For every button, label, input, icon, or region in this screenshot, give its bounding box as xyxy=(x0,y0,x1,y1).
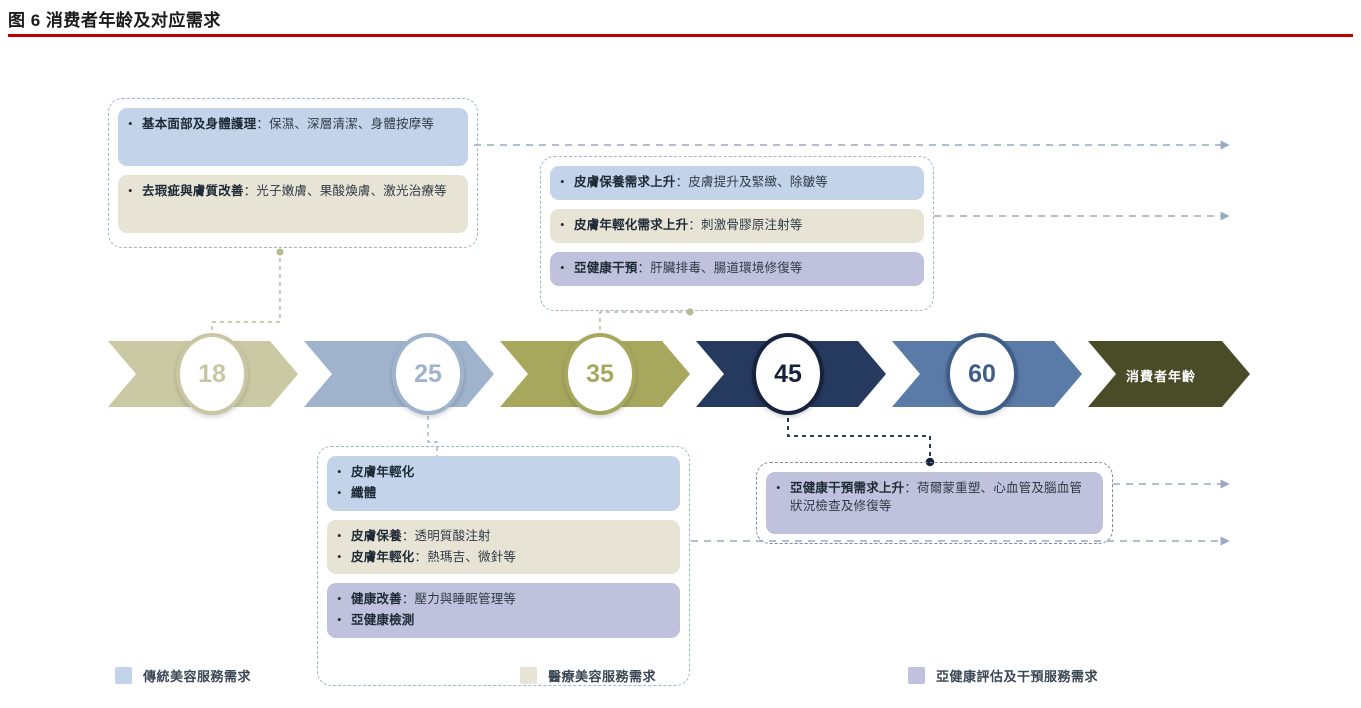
box-bottom-right: • 亞健康干預需求上升：荷爾蒙重塑、心血管及腦血管狀況檢查及修復等 xyxy=(756,462,1113,544)
legend-swatch-icon xyxy=(520,667,537,684)
chip-skin-rejuvenation-rise: • 皮膚年輕化需求上升：刺激骨膠原注射等 xyxy=(550,209,924,243)
chip-health-improvement-detection: • 健康改善：壓力與睡眠管理等 • 亞健康檢測 xyxy=(327,583,680,638)
bullet-item: • 健康改善：壓力與睡眠管理等 xyxy=(337,590,670,609)
chip-skin-maintenance-rise: • 皮膚保養需求上升：皮膚提升及緊緻、除皺等 xyxy=(550,166,924,200)
chip-skincare-rejuvenation: • 皮膚保養：透明質酸注射 • 皮膚年輕化：熱瑪吉、微針等 xyxy=(327,520,680,575)
bullet-item: • 皮膚保養需求上升：皮膚提升及緊緻、除皺等 xyxy=(560,173,914,192)
bullet-dot-icon: • xyxy=(337,527,351,546)
bullet-item: • 去瑕疵與膚質改善：光子嫩膚、果酸煥膚、激光治療等 xyxy=(128,182,458,201)
bullet-item: • 亞健康檢測 xyxy=(337,611,670,630)
bullet-label: 皮膚年輕化需求上升：刺激骨膠原注射等 xyxy=(574,216,914,234)
box-bottom-middle: • 皮膚年輕化 • 纖體 • 皮膚保養：透明質酸注射 • 皮膚年輕化：熱瑪吉、微… xyxy=(317,446,690,686)
age-node-45[interactable]: 45 xyxy=(752,333,824,415)
bullet-label: 亞健康干預需求上升：荷爾蒙重塑、心血管及腦血管狀況檢查及修復等 xyxy=(790,479,1093,515)
bullet-dot-icon: • xyxy=(337,548,351,567)
legend-item-traditional: 傳統美容服務需求 xyxy=(115,666,251,685)
figure-header: 图 6 消费者年龄及对应需求 xyxy=(8,6,1353,40)
age-node-18[interactable]: 18 xyxy=(176,333,248,415)
bullet-item: • 亞健康干預：肝臟排毒、腸道環境修復等 xyxy=(560,259,914,278)
box-top-middle: • 皮膚保養需求上升：皮膚提升及緊緻、除皺等 • 皮膚年輕化需求上升：刺激骨膠原… xyxy=(540,156,934,311)
age-node-label: 35 xyxy=(586,362,614,387)
bullet-dot-icon: • xyxy=(337,463,351,482)
bullet-label: 去瑕疵與膚質改善：光子嫩膚、果酸煥膚、激光治療等 xyxy=(142,182,458,200)
bullet-dot-icon: • xyxy=(560,216,574,235)
bullet-dot-icon: • xyxy=(776,479,790,498)
bullet-dot-icon: • xyxy=(560,173,574,192)
legend-label: 亞健康評估及干預服務需求 xyxy=(936,666,1098,685)
bullet-label: 健康改善：壓力與睡眠管理等 xyxy=(351,590,670,608)
bullet-dot-icon: • xyxy=(560,259,574,278)
bullet-label: 纖體 xyxy=(351,484,670,502)
age-timeline-band: 18 25 35 45 60 消費者年齡 xyxy=(108,329,1250,419)
bullet-dot-icon: • xyxy=(337,590,351,609)
bullet-label: 亞健康檢測 xyxy=(351,611,670,629)
bullet-item: • 皮膚年輕化需求上升：刺激骨膠原注射等 xyxy=(560,216,914,235)
legend-item-subhealth: 亞健康評估及干預服務需求 xyxy=(908,666,1098,685)
page-title: 图 6 消费者年龄及对应需求 xyxy=(8,6,1353,31)
legend-item-medical: 醫療美容服務需求 xyxy=(520,666,656,685)
title-underline-rule xyxy=(8,34,1353,37)
chip-rejuvenation-slimming: • 皮膚年輕化 • 纖體 xyxy=(327,456,680,511)
bullet-item: • 亞健康干預需求上升：荷爾蒙重塑、心血管及腦血管狀況檢查及修復等 xyxy=(776,479,1093,515)
bullet-label: 皮膚年輕化 xyxy=(351,463,670,481)
bullet-item: • 皮膚年輕化：熱瑪吉、微針等 xyxy=(337,548,670,567)
age-node-35[interactable]: 35 xyxy=(564,333,636,415)
chip-basic-care: • 基本面部及身體護理：保濕、深層清潔、身體按摩等 xyxy=(118,108,468,166)
age-node-label: 60 xyxy=(968,362,996,387)
legend-swatch-icon xyxy=(908,667,925,684)
box-top-left: • 基本面部及身體護理：保濕、深層清潔、身體按摩等 • 去瑕疵與膚質改善：光子嫩… xyxy=(108,98,478,248)
bullet-dot-icon: • xyxy=(128,115,142,134)
age-node-label: 18 xyxy=(198,362,226,387)
bullet-dot-icon: • xyxy=(337,611,351,630)
bullet-label: 皮膚保養：透明質酸注射 xyxy=(351,527,670,545)
age-node-label: 25 xyxy=(414,362,442,387)
bullet-item: • 基本面部及身體護理：保濕、深層清潔、身體按摩等 xyxy=(128,115,458,134)
legend-label: 傳統美容服務需求 xyxy=(143,666,251,685)
bullet-item: • 纖體 xyxy=(337,484,670,503)
bullet-dot-icon: • xyxy=(337,484,351,503)
bullet-dot-icon: • xyxy=(128,182,142,201)
bullet-label: 皮膚保養需求上升：皮膚提升及緊緻、除皺等 xyxy=(574,173,914,191)
timeline-end-label: 消費者年齡 xyxy=(1126,366,1196,385)
age-node-60[interactable]: 60 xyxy=(946,333,1018,415)
age-node-25[interactable]: 25 xyxy=(392,333,464,415)
bullet-item: • 皮膚年輕化 xyxy=(337,463,670,482)
diagram-canvas: • 基本面部及身體護理：保濕、深層清潔、身體按摩等 • 去瑕疵與膚質改善：光子嫩… xyxy=(0,44,1361,708)
chip-subhealth-demand-rise: • 亞健康干預需求上升：荷爾蒙重塑、心血管及腦血管狀況檢查及修復等 xyxy=(766,472,1103,534)
bullet-label: 亞健康干預：肝臟排毒、腸道環境修復等 xyxy=(574,259,914,277)
timeline-arrow-shapes xyxy=(108,329,1250,419)
bullet-item: • 皮膚保養：透明質酸注射 xyxy=(337,527,670,546)
bullet-label: 皮膚年輕化：熱瑪吉、微針等 xyxy=(351,548,670,566)
legend-swatch-icon xyxy=(115,667,132,684)
bullet-label: 基本面部及身體護理：保濕、深層清潔、身體按摩等 xyxy=(142,115,458,133)
legend-label: 醫療美容服務需求 xyxy=(548,666,656,685)
age-node-label: 45 xyxy=(774,362,802,387)
chip-blemish-skin-quality: • 去瑕疵與膚質改善：光子嫩膚、果酸煥膚、激光治療等 xyxy=(118,175,468,233)
chip-subhealth-intervention: • 亞健康干預：肝臟排毒、腸道環境修復等 xyxy=(550,252,924,286)
